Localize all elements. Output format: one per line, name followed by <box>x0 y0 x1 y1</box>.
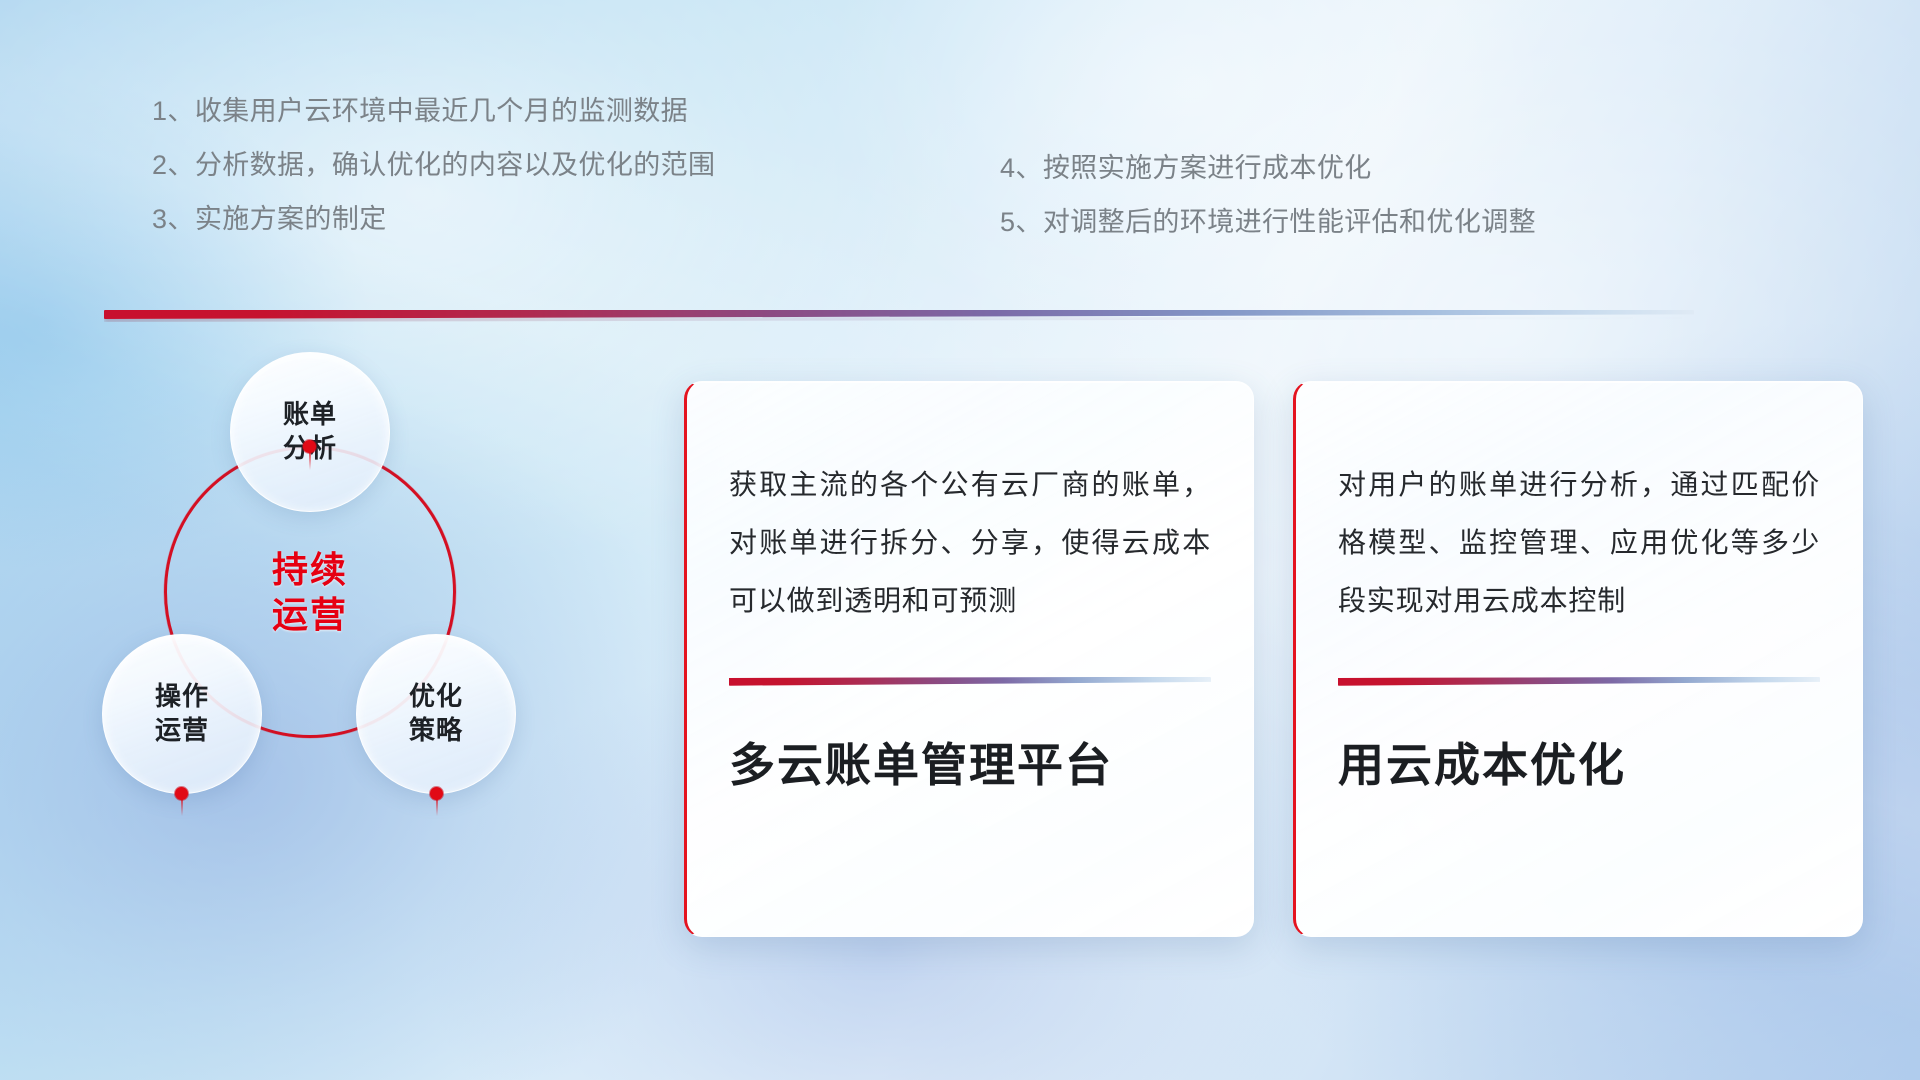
step-item-3: 3、实施方案的制定 <box>152 206 715 233</box>
card-multi-cloud-billing-platform[interactable]: 获取主流的各个公有云厂商的账单，对账单进行拆分、分享，使得云成本可以做到透明和可… <box>684 381 1254 937</box>
step-item-4: 4、按照实施方案进行成本优化 <box>1000 155 1536 182</box>
venn-node-dot-bottom-left <box>175 787 188 800</box>
venn-bubble-operations-line1: 操作 <box>155 680 209 714</box>
venn-bubble-operations-line2: 运营 <box>155 714 209 748</box>
venn-node-dot-top <box>303 440 316 453</box>
continuous-operation-venn-diagram: 持续 运营 账单 分析 操作 运营 优化 策略 <box>84 352 554 872</box>
venn-bubble-optimization-strategy[interactable]: 优化 策略 <box>356 634 516 794</box>
card-cloud-cost-optimization-divider <box>1338 677 1820 686</box>
venn-bubble-optimization-strategy-line1: 优化 <box>409 680 463 714</box>
venn-connector-stem-top <box>309 450 311 470</box>
card-multi-cloud-billing-platform-body: 获取主流的各个公有云厂商的账单，对账单进行拆分、分享，使得云成本可以做到透明和可… <box>687 382 1253 631</box>
venn-bubble-operations[interactable]: 操作 运营 <box>102 634 262 794</box>
card-cloud-cost-optimization[interactable]: 对用户的账单进行分析，通过匹配价格模型、监控管理、应用优化等多少段实现对用云成本… <box>1293 381 1863 937</box>
step-item-5: 5、对调整后的环境进行性能评估和优化调整 <box>1000 209 1536 236</box>
steps-right-column: 4、按照实施方案进行成本优化 5、对调整后的环境进行性能评估和优化调整 <box>1000 155 1536 236</box>
steps-left-column: 1、收集用户云环境中最近几个月的监测数据 2、分析数据，确认优化的内容以及优化的… <box>152 98 715 233</box>
step-item-1: 1、收集用户云环境中最近几个月的监测数据 <box>152 98 715 125</box>
venn-bubble-optimization-strategy-line2: 策略 <box>409 714 463 748</box>
card-divider-bar <box>729 677 1211 686</box>
venn-node-dot-bottom-right <box>430 787 443 800</box>
card-cloud-cost-optimization-title: 用云成本优化 <box>1338 686 1820 791</box>
card-multi-cloud-billing-platform-title: 多云账单管理平台 <box>729 686 1211 791</box>
step-item-2: 2、分析数据，确认优化的内容以及优化的范围 <box>152 152 715 179</box>
venn-bubble-billing-analysis-line1: 账单 <box>283 398 337 432</box>
section-divider-rule <box>104 310 1694 322</box>
venn-bubble-billing-analysis[interactable]: 账单 分析 <box>230 352 390 512</box>
slide-stage: 1、收集用户云环境中最近几个月的监测数据 2、分析数据，确认优化的内容以及优化的… <box>0 0 1920 1080</box>
card-multi-cloud-billing-platform-divider <box>729 677 1211 686</box>
card-divider-bar <box>1338 677 1820 686</box>
card-cloud-cost-optimization-body: 对用户的账单进行分析，通过匹配价格模型、监控管理、应用优化等多少段实现对用云成本… <box>1296 382 1862 631</box>
